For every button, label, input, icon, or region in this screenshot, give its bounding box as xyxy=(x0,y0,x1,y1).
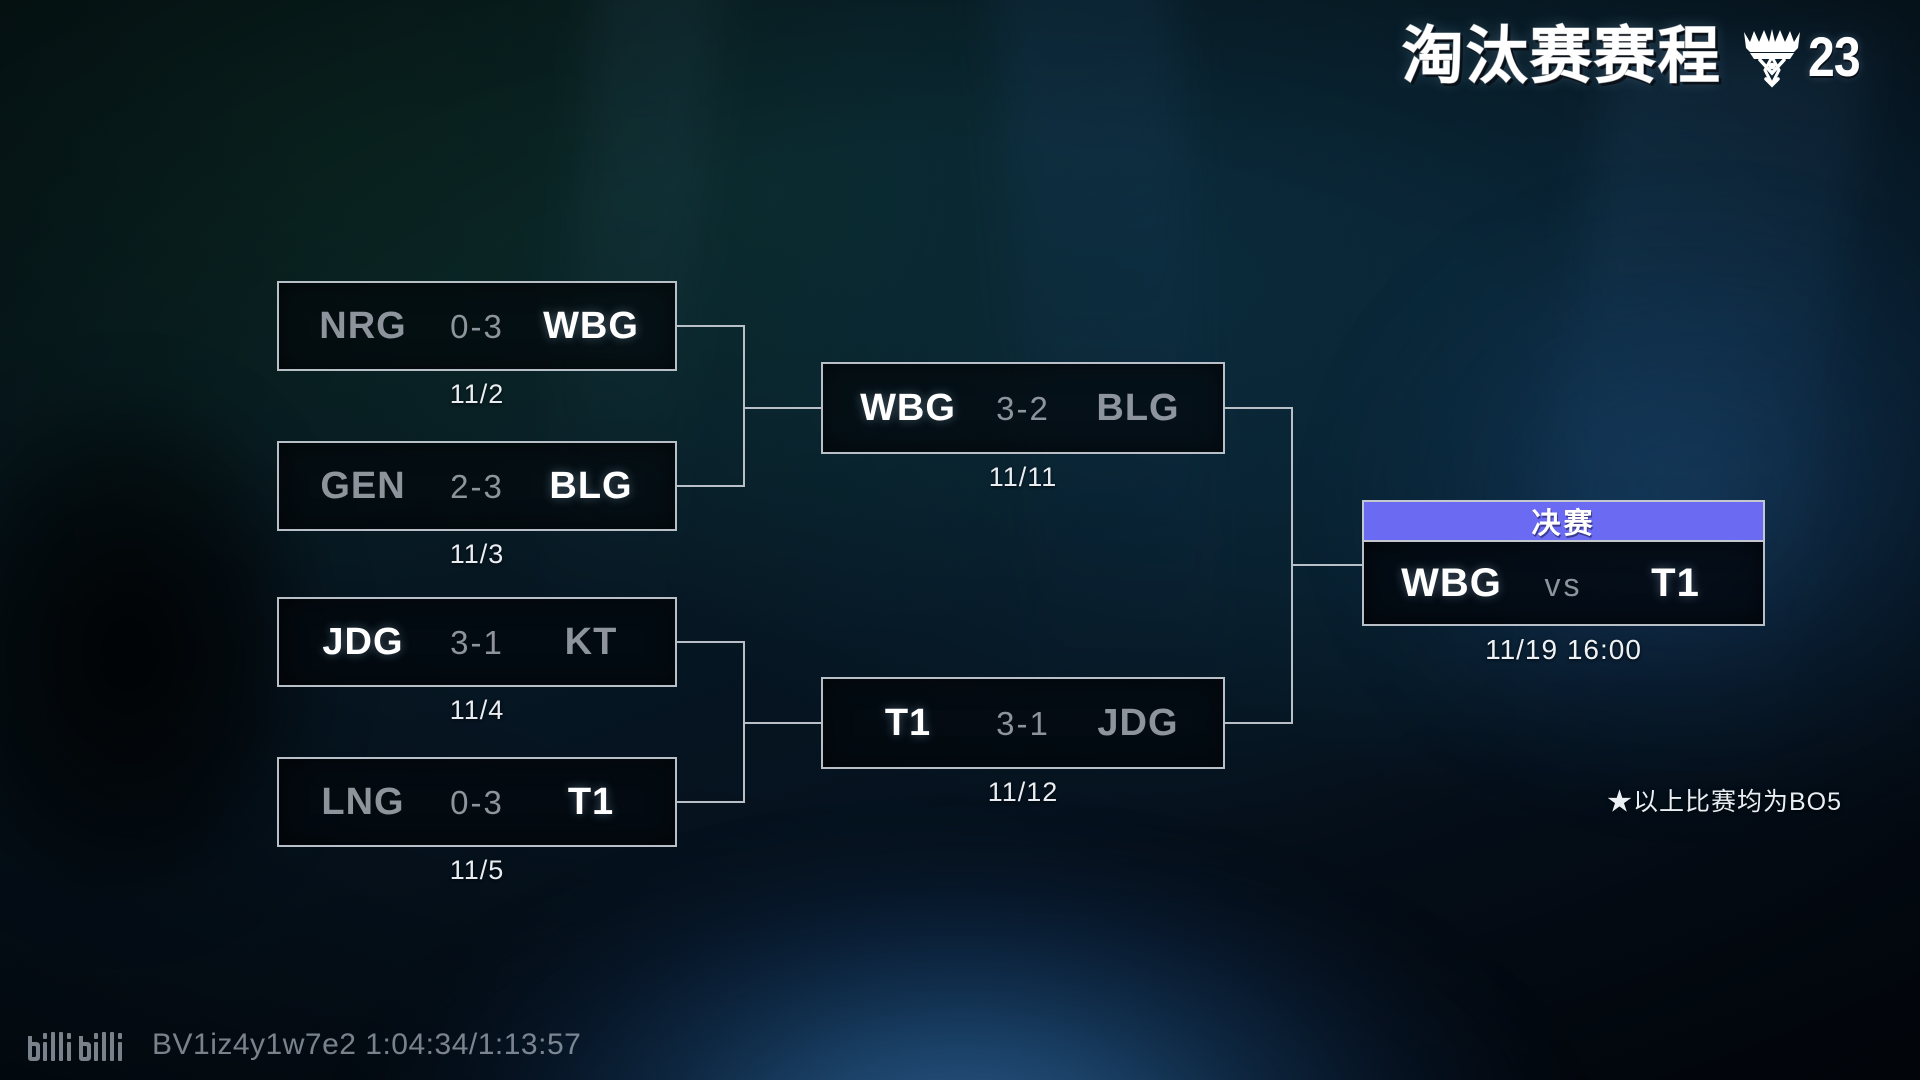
match-quarterfinal-2[interactable]: GEN 2-3 BLG xyxy=(277,441,677,531)
final-team-right: T1 xyxy=(1612,561,1740,606)
connector-line xyxy=(1225,407,1291,409)
bilibili-logo-icon xyxy=(26,1028,138,1062)
match-team-right: WBG xyxy=(529,305,653,348)
match-team-left: JDG xyxy=(301,621,425,664)
match-team-right: BLG xyxy=(1075,387,1201,430)
match-date-quarterfinal-3: 11/4 xyxy=(277,695,677,726)
connector-line xyxy=(1225,722,1291,724)
match-date-quarterfinal-2: 11/3 xyxy=(277,539,677,570)
bracket: NRG 0-3 WBG 11/2 GEN 2-3 BLG 11/3 JDG 3-… xyxy=(0,0,1920,1080)
connector-line xyxy=(743,325,745,487)
match-team-right: JDG xyxy=(1075,702,1201,745)
match-date-quarterfinal-4: 11/5 xyxy=(277,855,677,886)
match-date-semifinal-1: 11/11 xyxy=(821,462,1225,493)
connector-line xyxy=(677,325,743,327)
match-team-left: NRG xyxy=(301,305,425,348)
connector-line xyxy=(1291,564,1364,566)
final-body: WBG vs T1 xyxy=(1362,542,1765,626)
match-score: 2-3 xyxy=(425,468,529,506)
match-score: 0-3 xyxy=(425,308,529,346)
match-date-quarterfinal-1: 11/2 xyxy=(277,379,677,410)
final-header: 决赛 xyxy=(1362,500,1765,542)
worlds-knockout-bracket-screen: 淘汰赛赛程 23 NRG 0-3 WBG 11/2 xyxy=(0,0,1920,1080)
match-score: 3-1 xyxy=(425,624,529,662)
match-quarterfinal-3[interactable]: JDG 3-1 KT xyxy=(277,597,677,687)
match-team-left: T1 xyxy=(845,702,971,745)
connector-line xyxy=(677,485,743,487)
match-date-semifinal-2: 11/12 xyxy=(821,777,1225,808)
match-team-left: GEN xyxy=(301,465,425,508)
connector-line xyxy=(677,801,743,803)
watermark-text: BV1iz4y1w7e2 1:04:34/1:13:57 xyxy=(152,1028,581,1062)
match-score: 3-2 xyxy=(971,390,1075,428)
bilibili-watermark: BV1iz4y1w7e2 1:04:34/1:13:57 xyxy=(26,1028,581,1062)
match-final[interactable]: 决赛 WBG vs T1 11/19 16:00 xyxy=(1362,500,1765,626)
match-semifinal-2[interactable]: T1 3-1 JDG xyxy=(821,677,1225,769)
match-quarterfinal-1[interactable]: NRG 0-3 WBG xyxy=(277,281,677,371)
connector-line xyxy=(743,722,823,724)
final-team-left: WBG xyxy=(1388,561,1516,606)
match-quarterfinal-4[interactable]: LNG 0-3 T1 xyxy=(277,757,677,847)
match-team-right: BLG xyxy=(529,465,653,508)
connector-line xyxy=(743,407,823,409)
connector-line xyxy=(677,641,743,643)
match-score: 3-1 xyxy=(971,705,1075,743)
footnote-bo5: ★以上比赛均为BO5 xyxy=(1607,782,1842,818)
match-team-left: LNG xyxy=(301,781,425,824)
match-team-right: KT xyxy=(529,621,653,664)
match-date-final: 11/19 16:00 xyxy=(1362,634,1765,666)
match-team-right: T1 xyxy=(529,781,653,824)
match-team-left: WBG xyxy=(845,387,971,430)
match-semifinal-1[interactable]: WBG 3-2 BLG xyxy=(821,362,1225,454)
final-label: 决赛 xyxy=(1531,500,1595,542)
match-score: 0-3 xyxy=(425,784,529,822)
final-separator: vs xyxy=(1516,567,1612,604)
